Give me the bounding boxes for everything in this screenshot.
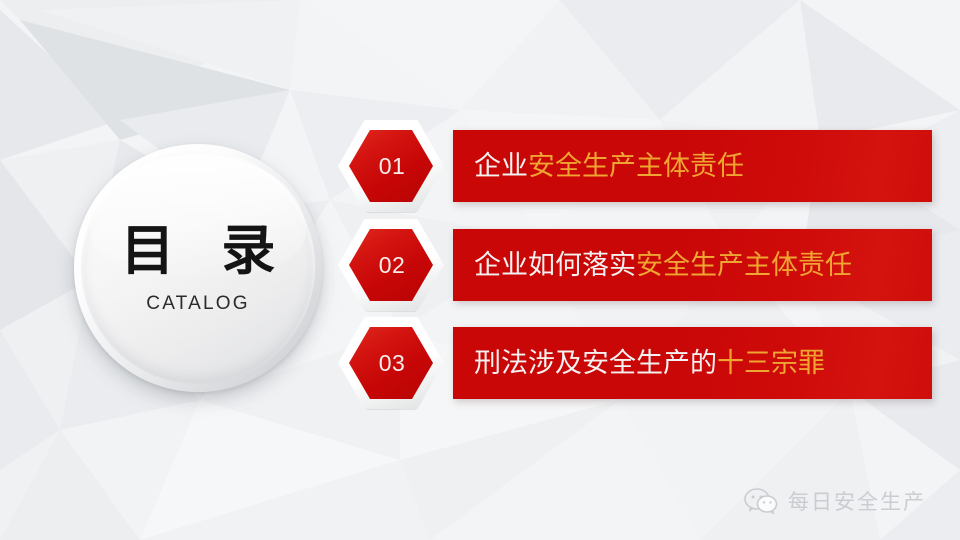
agenda-bar-02[interactable]: 企业如何落实安全生产主体责任 [453, 229, 932, 301]
wechat-icon [744, 488, 778, 516]
agenda-label-02-gold: 安全生产主体责任 [636, 250, 852, 281]
agenda-item-03[interactable]: 03 刑法涉及安全生产的十三宗罪 [338, 317, 934, 409]
agenda-label-01-gold: 安全生产主体责任 [528, 151, 744, 182]
agenda-label-01-white: 企业 [474, 151, 528, 182]
catalog-title-en: CATALOG [146, 294, 249, 313]
agenda-item-02[interactable]: 02 企业如何落实安全生产主体责任 [338, 219, 934, 311]
agenda-label-02: 企业如何落实安全生产主体责任 [453, 252, 852, 279]
circle-text-group: 目 录 CATALOG [74, 144, 322, 392]
agenda-label-03: 刑法涉及安全生产的十三宗罪 [453, 350, 825, 377]
agenda-label-01: 企业安全生产主体责任 [453, 153, 744, 180]
catalog-title-cn: 目 录 [107, 224, 290, 278]
presentation-slide: 目 录 CATALOG 01 企业安全生产主体责任 02 [0, 0, 960, 540]
catalog-circle: 目 录 CATALOG [74, 144, 322, 392]
agenda-label-02-white: 企业如何落实 [474, 250, 636, 281]
agenda-bar-01[interactable]: 企业安全生产主体责任 [453, 130, 932, 202]
watermark: 每日安全生产 [744, 484, 926, 520]
agenda-bar-03[interactable]: 刑法涉及安全生产的十三宗罪 [453, 327, 932, 399]
agenda-number-03: 03 [338, 317, 444, 409]
agenda-label-03-white: 刑法涉及安全生产的 [474, 348, 717, 379]
hex-badge-01[interactable]: 01 [338, 120, 444, 212]
hex-badge-03[interactable]: 03 [338, 317, 444, 409]
agenda-item-01[interactable]: 01 企业安全生产主体责任 [338, 120, 934, 212]
hex-badge-02[interactable]: 02 [338, 219, 444, 311]
agenda-number-02: 02 [338, 219, 444, 311]
agenda-number-01: 01 [338, 120, 444, 212]
watermark-text: 每日安全生产 [788, 492, 926, 513]
agenda-label-03-gold: 十三宗罪 [717, 348, 825, 379]
